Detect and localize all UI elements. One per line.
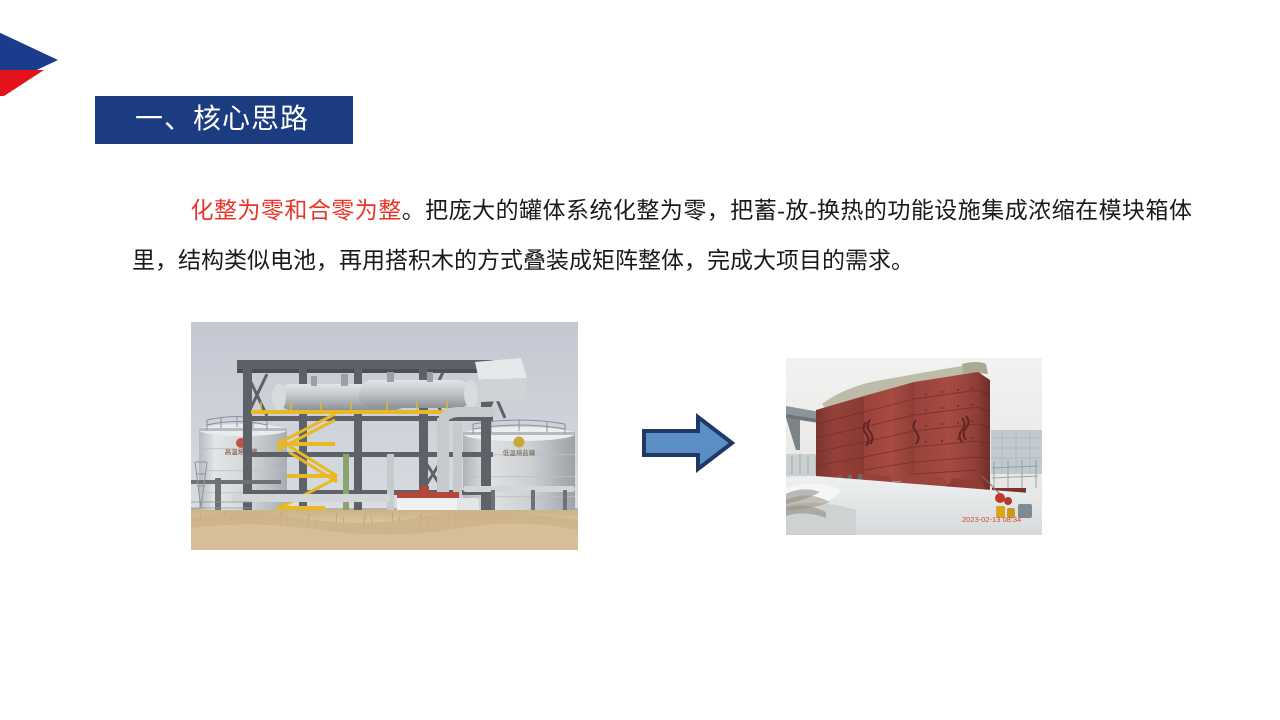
page-title: 一、核心思路 [95,106,309,134]
svg-text:低温熔盐罐: 低温熔盐罐 [503,448,536,457]
corner-logo-icon [0,22,78,96]
section-title-banner: 一、核心思路 [95,96,353,144]
figure-before-image: 高温熔盐罐 [191,322,578,550]
photo-timestamp: 2023-02-13 08:34 [962,515,1021,524]
paragraph-accent-text: 化整为零和合零为整 [190,198,402,223]
body-paragraph: 化整为零和合零为整。把庞大的罐体系统化整为零，把蓄-放-换热的功能设施集成浓缩在… [132,186,1192,286]
figure-after-image: 2023-02-13 08:34 [786,358,1042,535]
presentation-slide: 一、核心思路 化整为零和合零为整。把庞大的罐体系统化整为零，把蓄-放-换热的功能… [0,0,1280,720]
transform-arrow-icon [640,412,736,474]
